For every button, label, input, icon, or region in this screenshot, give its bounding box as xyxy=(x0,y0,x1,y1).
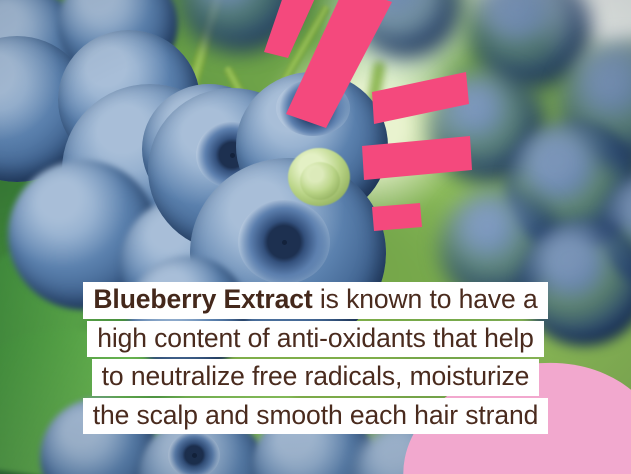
ingredient-description: Blueberry Extract is known to have a hig… xyxy=(0,282,631,436)
text-line-2: high content of anti-oxidants that help xyxy=(0,321,631,358)
text-line-4: the scalp and smooth each hair strand xyxy=(0,398,631,435)
ingredient-name: Blueberry Extract xyxy=(93,284,312,314)
text-line-1-rest: is known to have a xyxy=(313,284,538,314)
text-line-3-content: to neutralize free radicals, moisturize xyxy=(92,359,540,396)
text-line-1: Blueberry Extract is known to have a xyxy=(0,282,631,319)
text-line-4-content: the scalp and smooth each hair strand xyxy=(83,398,549,435)
text-line-2-content: high content of anti-oxidants that help xyxy=(87,321,544,358)
berry-calyx xyxy=(238,200,330,284)
infographic-canvas: Blueberry Extract is known to have a hig… xyxy=(0,0,631,474)
text-line-3: to neutralize free radicals, moisturize xyxy=(0,359,631,396)
berry-calyx xyxy=(168,432,220,474)
unripe-green-berry xyxy=(300,162,340,200)
berry-calyx xyxy=(276,80,350,136)
